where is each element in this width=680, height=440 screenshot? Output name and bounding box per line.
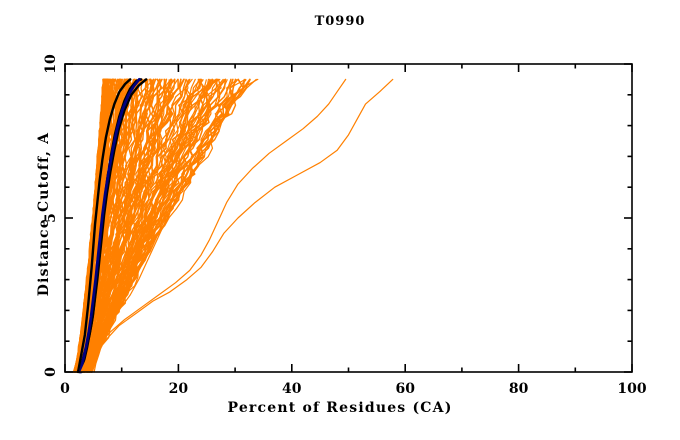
x-tick-label: 80 [509, 381, 529, 397]
x-tick-label: 60 [395, 381, 415, 397]
x-tick-label: 100 [617, 381, 646, 397]
y-tick-label: 0 [43, 367, 59, 377]
x-tick-label: 0 [60, 381, 70, 397]
x-tick-label: 20 [169, 381, 189, 397]
chart-root: T0990 Percent of Residues (CA) Distance … [0, 0, 680, 440]
y-tick-label: 5 [43, 213, 59, 223]
plot-canvas: 0204060801000510 [0, 0, 680, 440]
x-tick-label: 40 [282, 381, 302, 397]
y-tick-label: 10 [43, 54, 59, 74]
